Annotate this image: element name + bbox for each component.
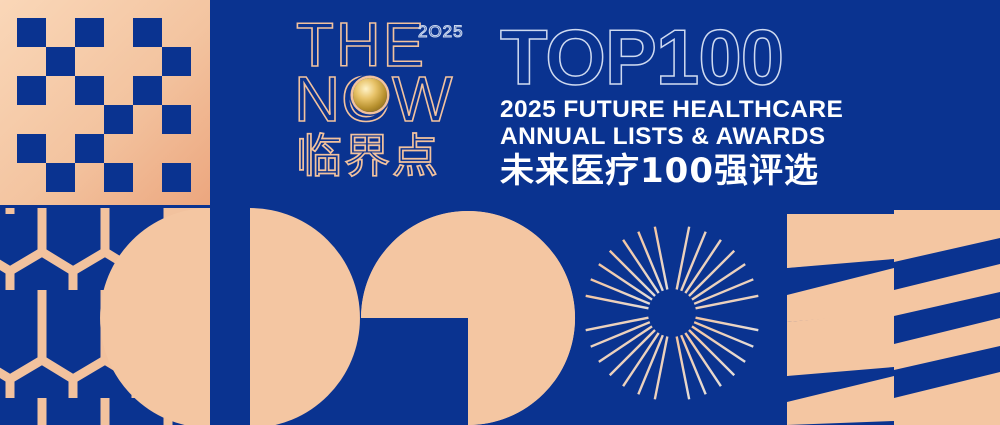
- headline-block: TOP100 2025 FUTURE HEALTHCARE ANNUAL LIS…: [500, 20, 860, 191]
- checkerboard-pattern: [0, 0, 210, 205]
- headline-subtitle-chinese: 未来医疗100强评选: [500, 151, 860, 191]
- logo-chinese-name: 临界点: [296, 130, 486, 182]
- headline-subtitle-line2: ANNUAL LISTS & AWARDS: [500, 123, 860, 150]
- gold-orb-icon: [353, 78, 387, 112]
- now-row: NOW: [296, 70, 486, 128]
- logo-year: 2O25: [418, 22, 464, 42]
- headline-subtitle-line1: 2025 FUTURE HEALTHCARE: [500, 96, 860, 123]
- banner-root: THE 2O25 NOW 临界点 TOP100 2025 FUTURE HEAL…: [0, 0, 1000, 425]
- logo-block: THE 2O25 NOW 临界点: [296, 18, 486, 188]
- headline-top100: TOP100: [500, 20, 860, 94]
